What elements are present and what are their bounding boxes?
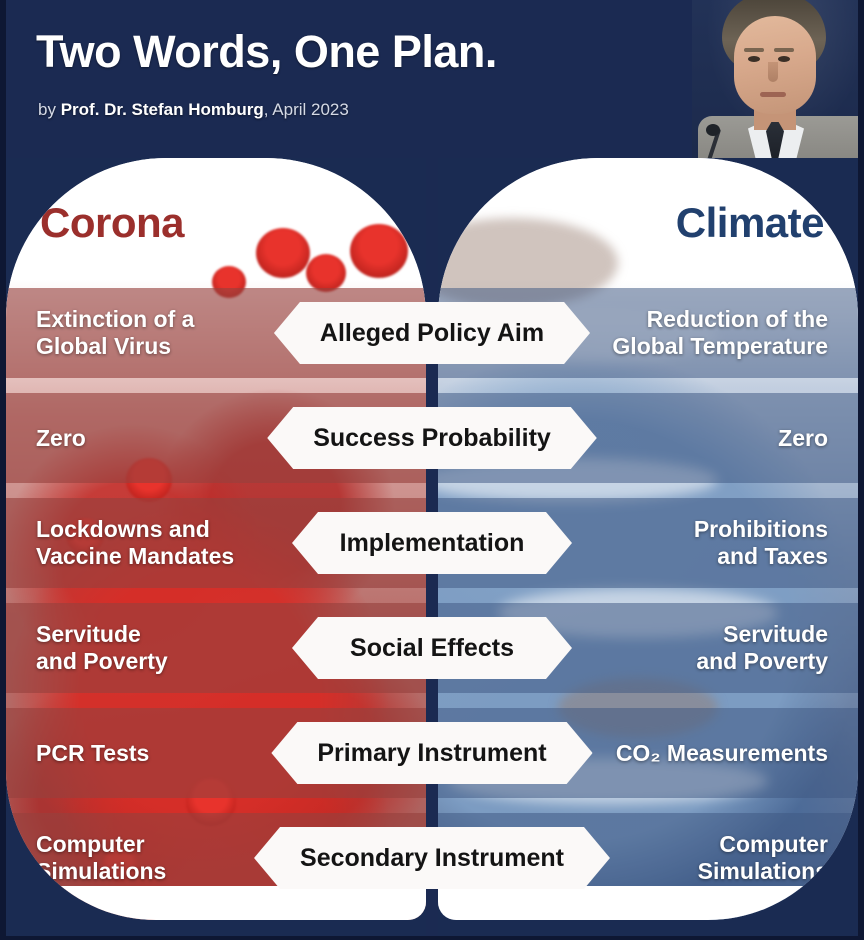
cell-text: ComputerSimulations (36, 831, 166, 884)
column-title-corona: Corona (40, 199, 184, 247)
cell-text: Zero (36, 425, 86, 452)
criterion-label-2: Implementation (292, 512, 572, 574)
cell-text: Servitudeand Poverty (696, 621, 828, 674)
cell-text: ComputerSimulations (698, 831, 828, 884)
cell-text: Prohibitionsand Taxes (694, 516, 828, 569)
cell-text: Reduction of theGlobal Temperature (612, 306, 828, 359)
frame-edge-right (858, 0, 864, 940)
column-header-corona: Corona (6, 158, 426, 288)
criterion-label-1: Success Probability (267, 407, 597, 469)
cell-text: PCR Tests (36, 740, 149, 767)
byline-author: Prof. Dr. Stefan Homburg (61, 100, 264, 119)
criterion-label-3: Social Effects (292, 617, 572, 679)
byline-date: , April 2023 (264, 100, 349, 119)
frame-edge-bottom (0, 936, 864, 940)
column-title-climate: Climate (676, 199, 824, 247)
criterion-label-4: Primary Instrument (271, 722, 592, 784)
cell-text: Servitudeand Poverty (36, 621, 168, 674)
criterion-label-5: Secondary Instrument (254, 827, 610, 889)
panel-bottom-strip-right (438, 886, 858, 920)
criterion-label-0: Alleged Policy Aim (274, 302, 590, 364)
header-bar: Two Words, One Plan. by Prof. Dr. Stefan… (0, 0, 864, 158)
byline: by Prof. Dr. Stefan Homburg, April 2023 (38, 100, 349, 120)
author-portrait-photo (692, 0, 864, 158)
panel-bottom-strip-left (6, 886, 426, 920)
cell-text: Lockdowns andVaccine Mandates (36, 516, 234, 569)
frame-edge-left (0, 0, 6, 940)
infographic-root: Two Words, One Plan. by Prof. Dr. Stefan… (0, 0, 864, 940)
column-header-climate: Climate (438, 158, 858, 288)
page-title: Two Words, One Plan. (36, 26, 497, 78)
byline-prefix: by (38, 100, 61, 119)
cell-text: Extinction of aGlobal Virus (36, 306, 194, 359)
cell-text: CO₂ Measurements (616, 740, 828, 767)
cell-text: Zero (778, 425, 828, 452)
